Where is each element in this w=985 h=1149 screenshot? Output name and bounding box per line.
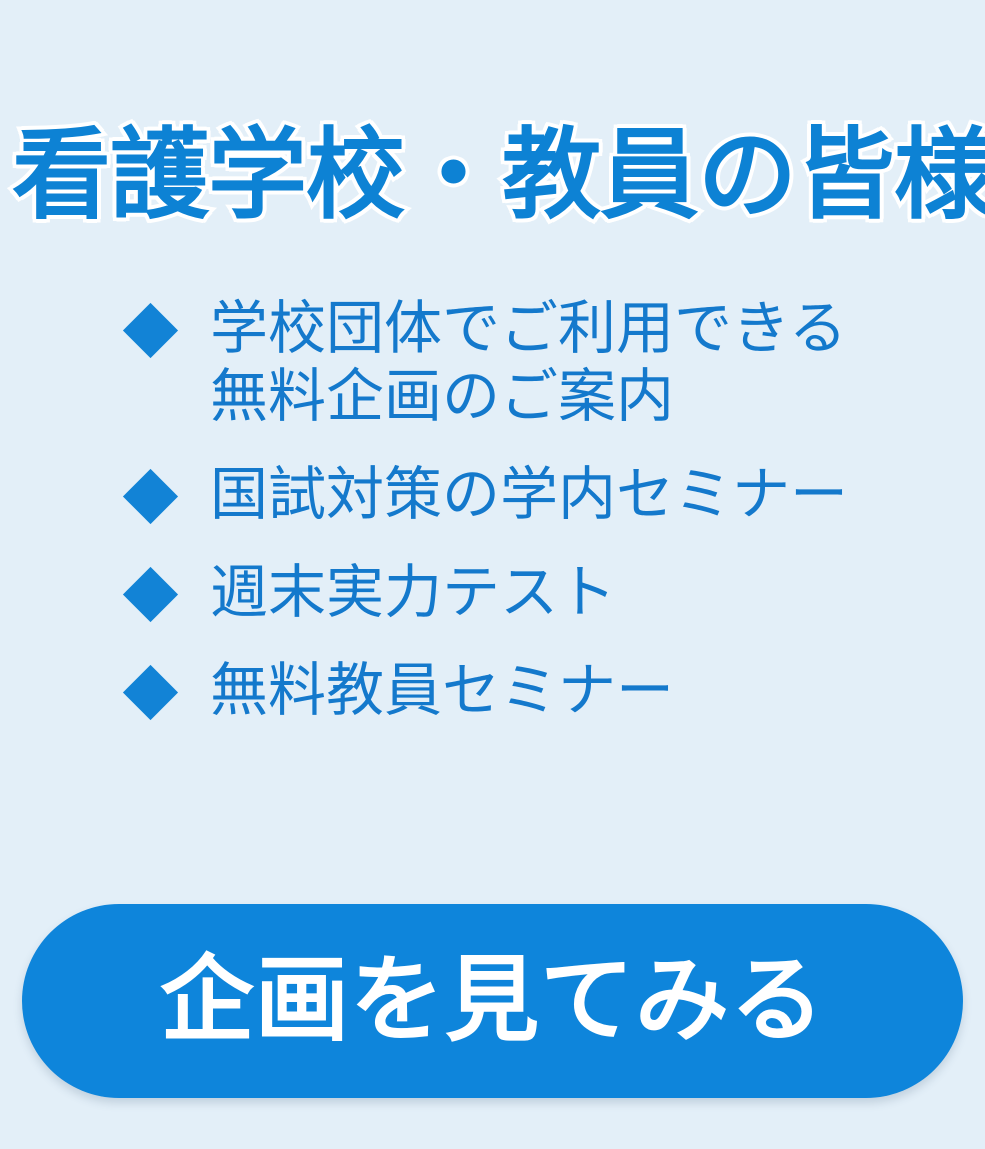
- diamond-icon: [123, 469, 178, 524]
- view-plans-button[interactable]: 企画を見てみる: [22, 904, 963, 1098]
- diamond-icon: [123, 665, 178, 720]
- list-item: 学校団体でご利用できる 無料企画のご案内: [0, 286, 985, 430]
- diamond-icon: [123, 303, 178, 358]
- feature-label: 国試対策の学内セミナー: [210, 452, 985, 528]
- feature-label: 週末実力テスト: [210, 550, 985, 626]
- diamond-icon: [123, 567, 178, 622]
- list-item: 国試対策の学内セミナー: [0, 452, 985, 528]
- view-plans-button-label: 企画を見てみる: [160, 951, 825, 1051]
- page-title: 看護学校・教員の皆様: [12, 116, 977, 236]
- feature-list: 学校団体でご利用できる 無料企画のご案内 国試対策の学内セミナー 週末実力テスト…: [0, 286, 985, 746]
- list-item: 週末実力テスト: [0, 550, 985, 626]
- feature-label: 学校団体でご利用できる 無料企画のご案内: [210, 286, 985, 430]
- nursing-school-promo-banner: 看護学校・教員の皆様 学校団体でご利用できる 無料企画のご案内 国試対策の学内セ…: [0, 0, 985, 1149]
- list-item: 無料教員セミナー: [0, 648, 985, 724]
- feature-label: 無料教員セミナー: [210, 648, 985, 724]
